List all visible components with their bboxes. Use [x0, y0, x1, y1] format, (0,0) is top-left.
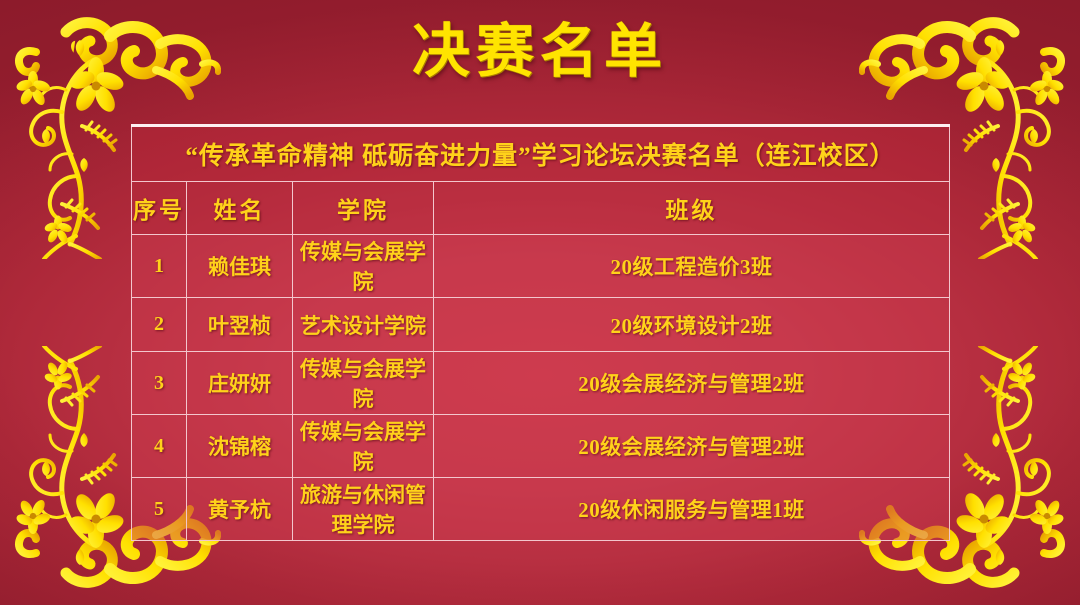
cell-index: 3 — [132, 352, 187, 415]
cell-index: 5 — [132, 478, 187, 541]
column-header-name: 姓名 — [187, 182, 293, 235]
cell-name: 叶翌桢 — [187, 298, 293, 352]
cell-class: 20级环境设计2班 — [434, 298, 950, 352]
cell-index: 1 — [132, 235, 187, 298]
cell-college: 传媒与会展学院 — [293, 352, 434, 415]
column-header-college: 学院 — [293, 182, 434, 235]
table-row: 4 沈锦榕 传媒与会展学院 20级会展经济与管理2班 — [132, 415, 950, 478]
table-row: 5 黄予杭 旅游与休闲管理学院 20级休闲服务与管理1班 — [132, 478, 950, 541]
column-header-class: 班级 — [434, 182, 950, 235]
roster-table: “传承革命精神 砥砺奋进力量”学习论坛决赛名单（连江校区） 序号 姓名 学院 班… — [131, 124, 950, 541]
cell-class: 20级工程造价3班 — [434, 235, 950, 298]
cell-college: 艺术设计学院 — [293, 298, 434, 352]
table-caption-row: “传承革命精神 砥砺奋进力量”学习论坛决赛名单（连江校区） — [132, 126, 950, 182]
table-caption: “传承革命精神 砥砺奋进力量”学习论坛决赛名单（连江校区） — [132, 126, 950, 182]
table-row: 1 赖佳琪 传媒与会展学院 20级工程造价3班 — [132, 235, 950, 298]
table-header-row: 序号 姓名 学院 班级 — [132, 182, 950, 235]
cell-name: 黄予杭 — [187, 478, 293, 541]
cell-class: 20级休闲服务与管理1班 — [434, 478, 950, 541]
cell-college: 传媒与会展学院 — [293, 415, 434, 478]
table-row: 2 叶翌桢 艺术设计学院 20级环境设计2班 — [132, 298, 950, 352]
column-header-index: 序号 — [132, 182, 187, 235]
roster-table-container: “传承革命精神 砥砺奋进力量”学习论坛决赛名单（连江校区） 序号 姓名 学院 班… — [131, 124, 949, 541]
page-title: 决赛名单 — [0, 16, 1080, 88]
cell-index: 2 — [132, 298, 187, 352]
cell-name: 赖佳琪 — [187, 235, 293, 298]
cell-class: 20级会展经济与管理2班 — [434, 415, 950, 478]
table-row: 3 庄妍妍 传媒与会展学院 20级会展经济与管理2班 — [132, 352, 950, 415]
cell-index: 4 — [132, 415, 187, 478]
cell-name: 庄妍妍 — [187, 352, 293, 415]
cell-class: 20级会展经济与管理2班 — [434, 352, 950, 415]
cell-name: 沈锦榕 — [187, 415, 293, 478]
cell-college: 传媒与会展学院 — [293, 235, 434, 298]
slide-canvas: 决赛名单 “传承革命精神 砥砺奋进力量”学习论坛决赛名单（连江校区） 序号 姓名… — [0, 0, 1080, 605]
cell-college: 旅游与休闲管理学院 — [293, 478, 434, 541]
